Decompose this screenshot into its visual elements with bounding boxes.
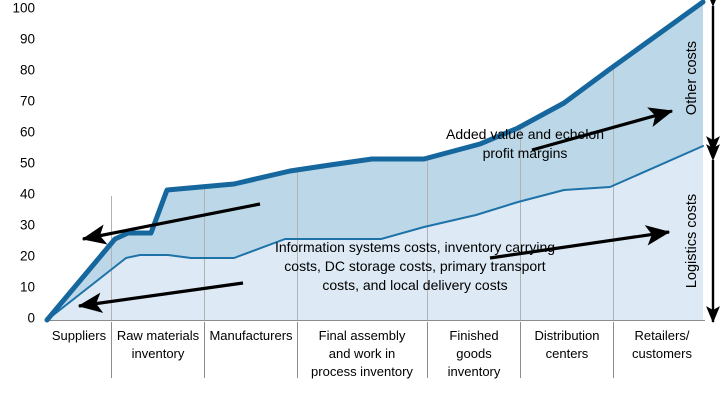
category-label-finished-goods-line3: inventory [448, 364, 501, 379]
added-value-line-1: Added value and echelon [446, 126, 604, 142]
ytick-label: 0 [27, 311, 35, 326]
logistics-components-line-1: Information systems costs, inventory car… [275, 239, 555, 255]
category-label-finished-goods: Finished [449, 328, 498, 343]
ytick-label: 20 [20, 249, 35, 264]
logistics-costs-label: Logistics costs [684, 194, 700, 288]
category-label-retailers: Retailers/ [635, 328, 690, 343]
chart-figure: 100 90 80 70 60 50 40 30 20 10 0 [0, 0, 726, 403]
category-label-finished-goods-line2: goods [456, 346, 492, 361]
category-label-final-assembly: Final assembly [319, 328, 406, 343]
category-label-manufacturers: Manufacturers [209, 328, 293, 343]
other-costs-label: Other costs [684, 41, 700, 115]
ytick-label: 80 [20, 63, 35, 78]
supply-chain-cost-chart: 100 90 80 70 60 50 40 30 20 10 0 [0, 0, 726, 403]
x-axis-categories: Suppliers Raw materials inventory Manufa… [52, 328, 693, 379]
logistics-components-line-2: costs, DC storage costs, primary transpo… [284, 258, 546, 274]
category-label-suppliers: Suppliers [52, 328, 107, 343]
ytick-label: 10 [20, 280, 35, 295]
added-value-line-2: profit margins [483, 145, 568, 161]
category-label-final-assembly-line3: process inventory [311, 364, 413, 379]
category-label-distribution: Distribution [534, 328, 599, 343]
ytick-label: 60 [20, 125, 35, 140]
ytick-label: 100 [12, 1, 35, 16]
ytick-label: 50 [20, 156, 35, 171]
logistics-components-line-3: costs, and local delivery costs [322, 277, 507, 293]
ytick-label: 70 [20, 94, 35, 109]
ytick-label: 90 [20, 32, 35, 47]
category-label-distribution-line2: centers [546, 346, 589, 361]
y-axis-ticks: 100 90 80 70 60 50 40 30 20 10 0 [12, 1, 35, 326]
ytick-label: 30 [20, 218, 35, 233]
category-label-final-assembly-line2: and work in [329, 346, 395, 361]
category-label-raw-materials-line2: inventory [132, 346, 185, 361]
category-label-raw-materials: Raw materials [117, 328, 200, 343]
category-label-retailers-line2: customers [632, 346, 692, 361]
ytick-label: 40 [20, 187, 35, 202]
